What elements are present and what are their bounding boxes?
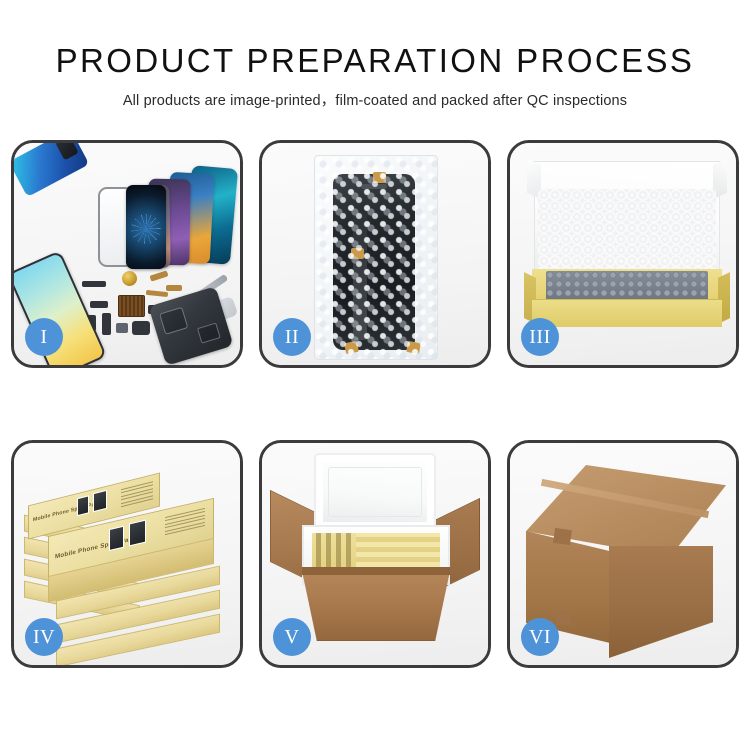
carton-rim xyxy=(302,567,450,575)
part-bracket-1 xyxy=(116,323,128,333)
step-panel-1[interactable]: I xyxy=(11,140,243,368)
label-chip-front-1 xyxy=(109,526,124,551)
part-antenna-flex xyxy=(146,290,168,297)
step-badge-6: VI xyxy=(521,618,559,656)
tape-tab-2 xyxy=(351,248,364,259)
step-panel-6[interactable]: VI xyxy=(507,440,739,668)
foam-sheet xyxy=(538,189,716,273)
header: PRODUCT PREPARATION PROCESS All products… xyxy=(0,0,750,110)
tape-tab-4 xyxy=(406,341,421,354)
tape-tab-3 xyxy=(344,341,359,354)
page-subtitle: All products are image-printed，film-coat… xyxy=(0,89,750,110)
step-panel-5[interactable]: V xyxy=(259,440,491,668)
part-flex-ribbon xyxy=(102,313,111,335)
foam-box-lid xyxy=(314,453,436,531)
label-chip-front-2 xyxy=(129,520,146,547)
part-flex-cable-2 xyxy=(166,285,182,291)
sealed-carton-right-face xyxy=(609,546,713,658)
step-panel-3[interactable]: III xyxy=(507,140,739,368)
label-chip-back-2 xyxy=(93,490,107,512)
step-badge-1: I xyxy=(25,318,63,356)
tape-tab-1 xyxy=(373,172,386,183)
step-panel-4[interactable]: Mobile Phone Spare Parts Mobile Phone Sp… xyxy=(11,440,243,668)
part-logic-board xyxy=(118,295,145,317)
step-panel-2[interactable]: II xyxy=(259,140,491,368)
packing-tape-upper xyxy=(553,528,572,545)
step-badge-5: V xyxy=(273,618,311,656)
part-speaker-bar xyxy=(82,281,106,287)
product-preparation-infographic: PRODUCT PREPARATION PROCESS All products… xyxy=(0,0,750,750)
phone-blue-backcover xyxy=(14,143,89,197)
part-camera-ring xyxy=(122,271,137,286)
bubble-wrap-bag xyxy=(314,155,438,360)
label-chip-back-1 xyxy=(77,495,89,516)
step-badge-4: IV xyxy=(25,618,63,656)
part-taptic-engine xyxy=(132,321,150,335)
step-badge-3: III xyxy=(521,318,559,356)
tray-front-panel xyxy=(532,299,722,327)
phone-main-display xyxy=(126,185,166,269)
part-flex-cable-1 xyxy=(150,270,169,281)
gray-bubble-liner xyxy=(546,271,708,301)
part-back-housing xyxy=(148,286,233,365)
screen-flex-cable xyxy=(353,212,367,340)
part-connector-1 xyxy=(90,301,108,308)
page-title: PRODUCT PREPARATION PROCESS xyxy=(0,42,750,80)
process-step-grid: I II xyxy=(11,140,739,668)
packing-tape-lower xyxy=(556,611,571,625)
corrugated-carton-front xyxy=(302,571,450,641)
phone-screen-assembly xyxy=(333,174,415,350)
step-badge-2: II xyxy=(273,318,311,356)
